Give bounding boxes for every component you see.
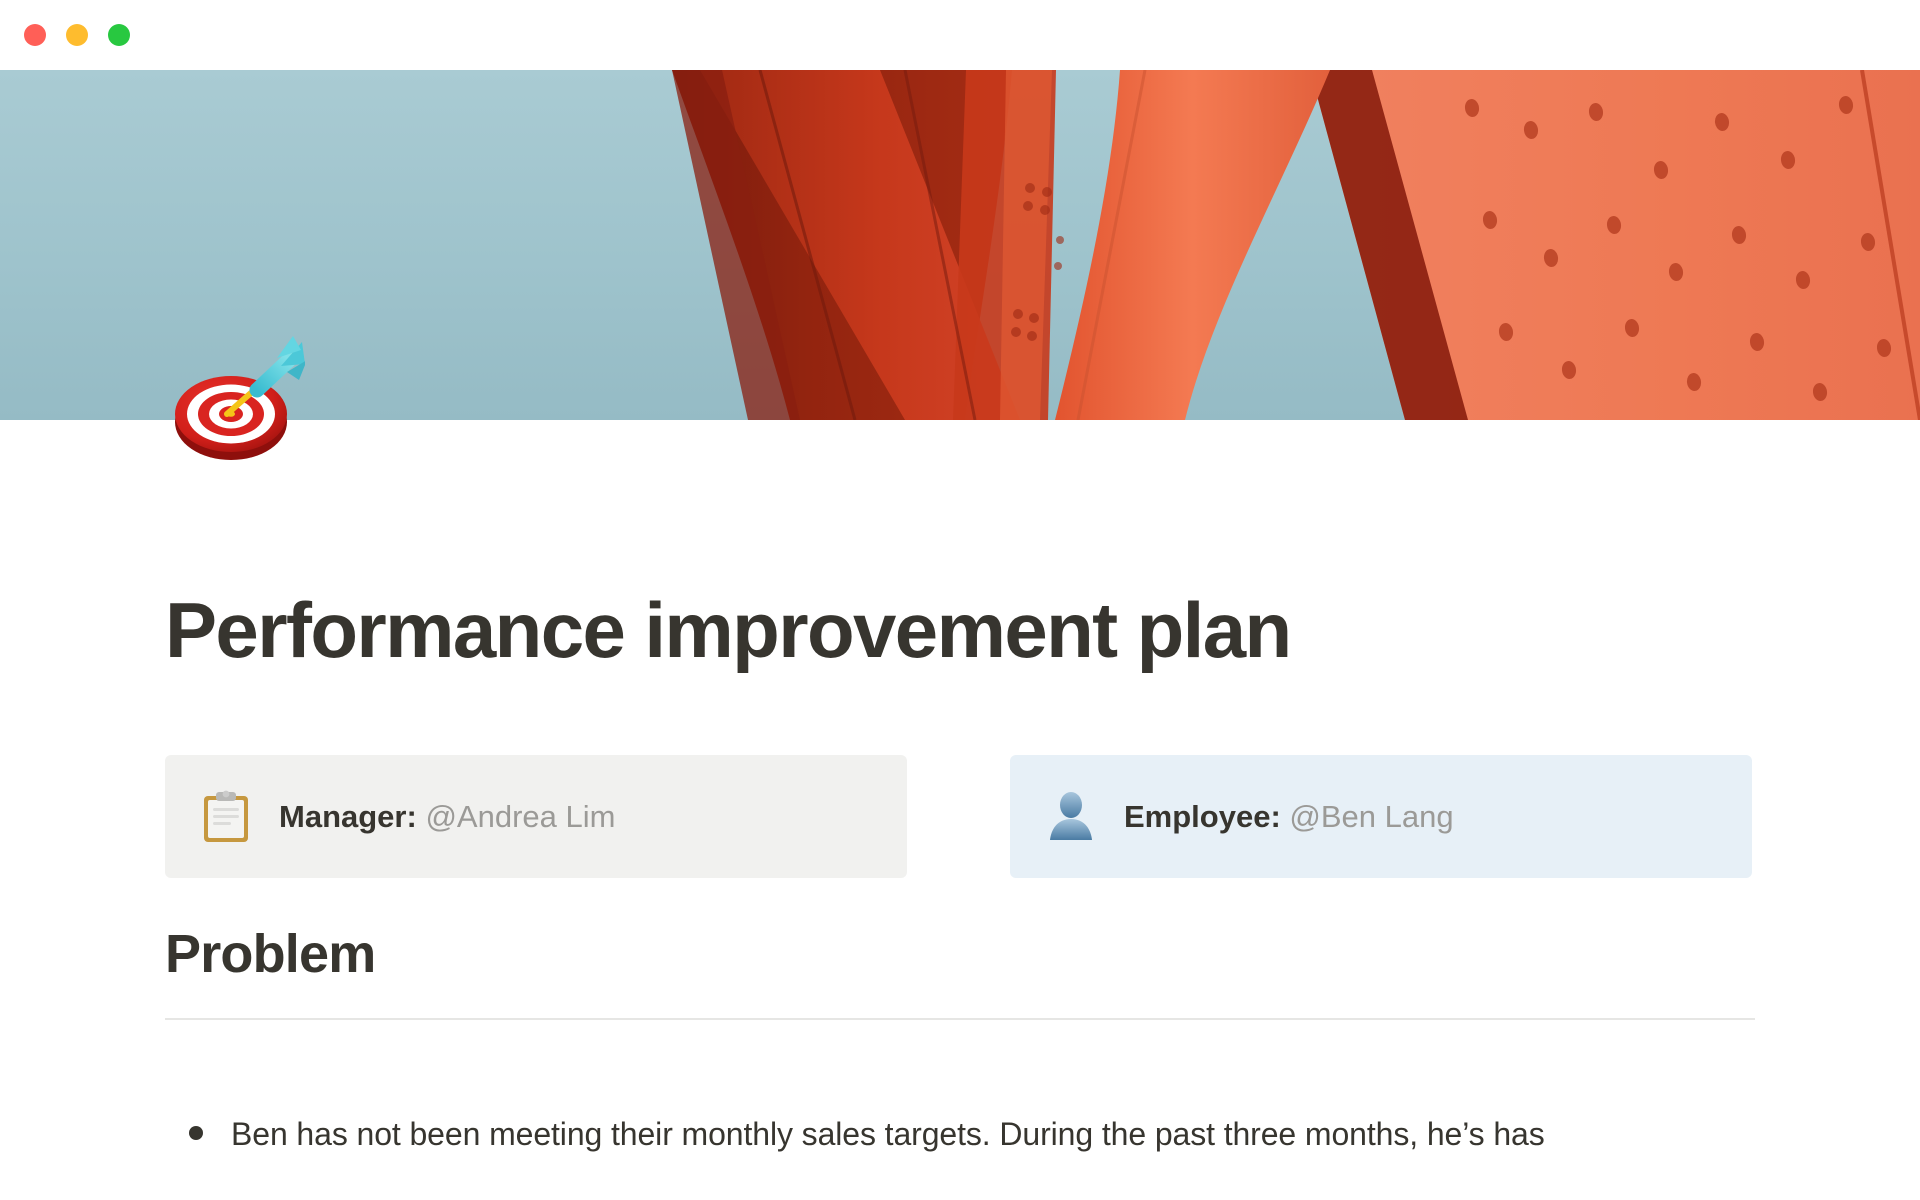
problem-bullet-list: Ben has not been meeting their monthly s…: [165, 1110, 1765, 1158]
traffic-light-controls: [24, 24, 130, 46]
callout-employee-label: Employee:: [1124, 799, 1281, 834]
callout-manager-value[interactable]: @Andrea Lim: [425, 799, 615, 834]
minimize-window-button[interactable]: [66, 24, 88, 46]
list-item[interactable]: Ben has not been meeting their monthly s…: [165, 1110, 1765, 1158]
clipboard-icon: [199, 790, 253, 844]
window-titlebar: [0, 0, 1920, 70]
section-heading-problem[interactable]: Problem: [165, 925, 375, 984]
document-body: Performance improvement plan: [0, 420, 1920, 1200]
section-divider: [165, 1018, 1755, 1020]
callout-manager[interactable]: Manager: @Andrea Lim: [165, 755, 907, 878]
bullet-point-icon: [189, 1126, 203, 1140]
page-title[interactable]: Performance improvement plan: [165, 590, 1765, 672]
list-item-text[interactable]: Ben has not been meeting their monthly s…: [231, 1110, 1545, 1158]
bust-in-silhouette-icon: [1044, 790, 1098, 844]
close-window-button[interactable]: [24, 24, 46, 46]
callout-row: Manager: @Andrea Lim: [165, 755, 1755, 878]
callout-employee-text: Employee: @Ben Lang: [1124, 796, 1454, 838]
maximize-window-button[interactable]: [108, 24, 130, 46]
direct-hit-icon[interactable]: [165, 330, 305, 470]
callout-employee[interactable]: Employee: @Ben Lang: [1010, 755, 1752, 878]
callout-employee-value[interactable]: @Ben Lang: [1289, 799, 1453, 834]
app-window: Performance improvement plan: [0, 0, 1920, 1200]
callout-manager-text: Manager: @Andrea Lim: [279, 796, 615, 838]
callout-manager-label: Manager:: [279, 799, 417, 834]
